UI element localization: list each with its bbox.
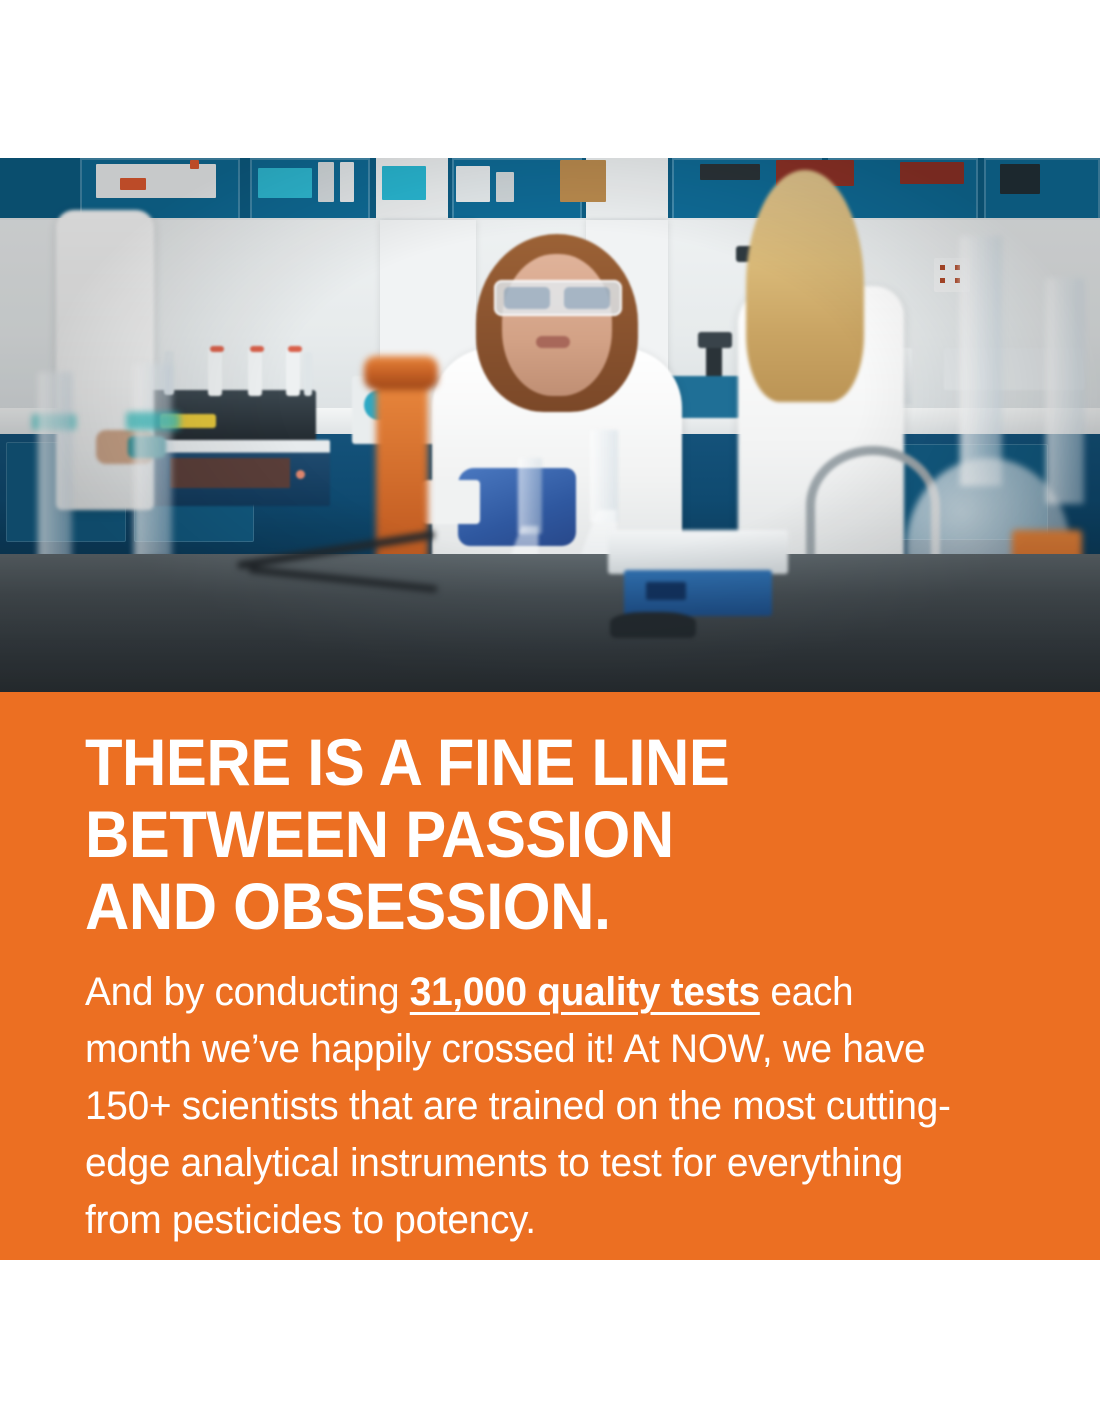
status-light [296,470,305,479]
tube-cap [288,346,302,352]
tube-cap [250,346,264,352]
photo-scene: 500 [0,158,1100,692]
shelf-bottle [340,162,354,202]
safety-goggles-icon [494,280,622,316]
shelf-box [560,160,606,202]
panel-content: THERE IS A FINE LINE BETWEEN PASSION AND… [85,726,1010,1249]
face [502,254,612,396]
clamp [698,332,732,348]
bottom-white-margin [0,1260,1100,1422]
shelf-box [900,162,964,184]
test-tube [304,352,312,396]
balance-scale [608,530,788,574]
volumetric-flask-neck [1046,278,1084,504]
shelf-bottle [258,168,312,198]
flask-marking [126,412,180,430]
shelf-bottle [496,172,514,202]
volumetric-flask-neck [38,372,72,572]
volumetric-flask-neck [134,364,172,574]
shelf-bottle [456,166,490,202]
shelf-label [190,160,199,169]
hair [746,170,864,402]
shelf-bottle [382,166,426,200]
quality-tests-highlight: 31,000 quality tests [410,970,760,1014]
test-tube [248,348,262,396]
body-lead: And by conducting [85,970,410,1014]
test-tube [208,348,222,396]
shelf-bottle [318,162,334,202]
shelf-box [1000,164,1040,194]
body-copy: And by conducting 31,000 quality tests e… [85,942,963,1249]
flask-neck [590,430,618,522]
upper-cabinet-band [0,158,1100,220]
test-tube [286,348,300,396]
tube-cap [210,346,224,352]
shelf-label [120,178,146,190]
instrument-screen [170,458,290,488]
laboratory-photo: 500 [0,158,1100,692]
promotional-card: 500 [0,0,1100,1422]
shelf-box [96,164,216,198]
orange-text-panel: THERE IS A FINE LINE BETWEEN PASSION AND… [0,692,1100,1260]
foreground-bench [0,554,1100,692]
balance-display [646,582,686,600]
top-white-margin [0,0,1100,158]
amber-column-top [364,356,438,390]
headline: THERE IS A FINE LINE BETWEEN PASSION AND… [85,726,945,942]
shelf-box [700,164,760,180]
volumetric-flask-neck [960,236,1002,486]
mouth [536,336,570,348]
dish [610,612,696,638]
flask-neck [518,458,542,534]
